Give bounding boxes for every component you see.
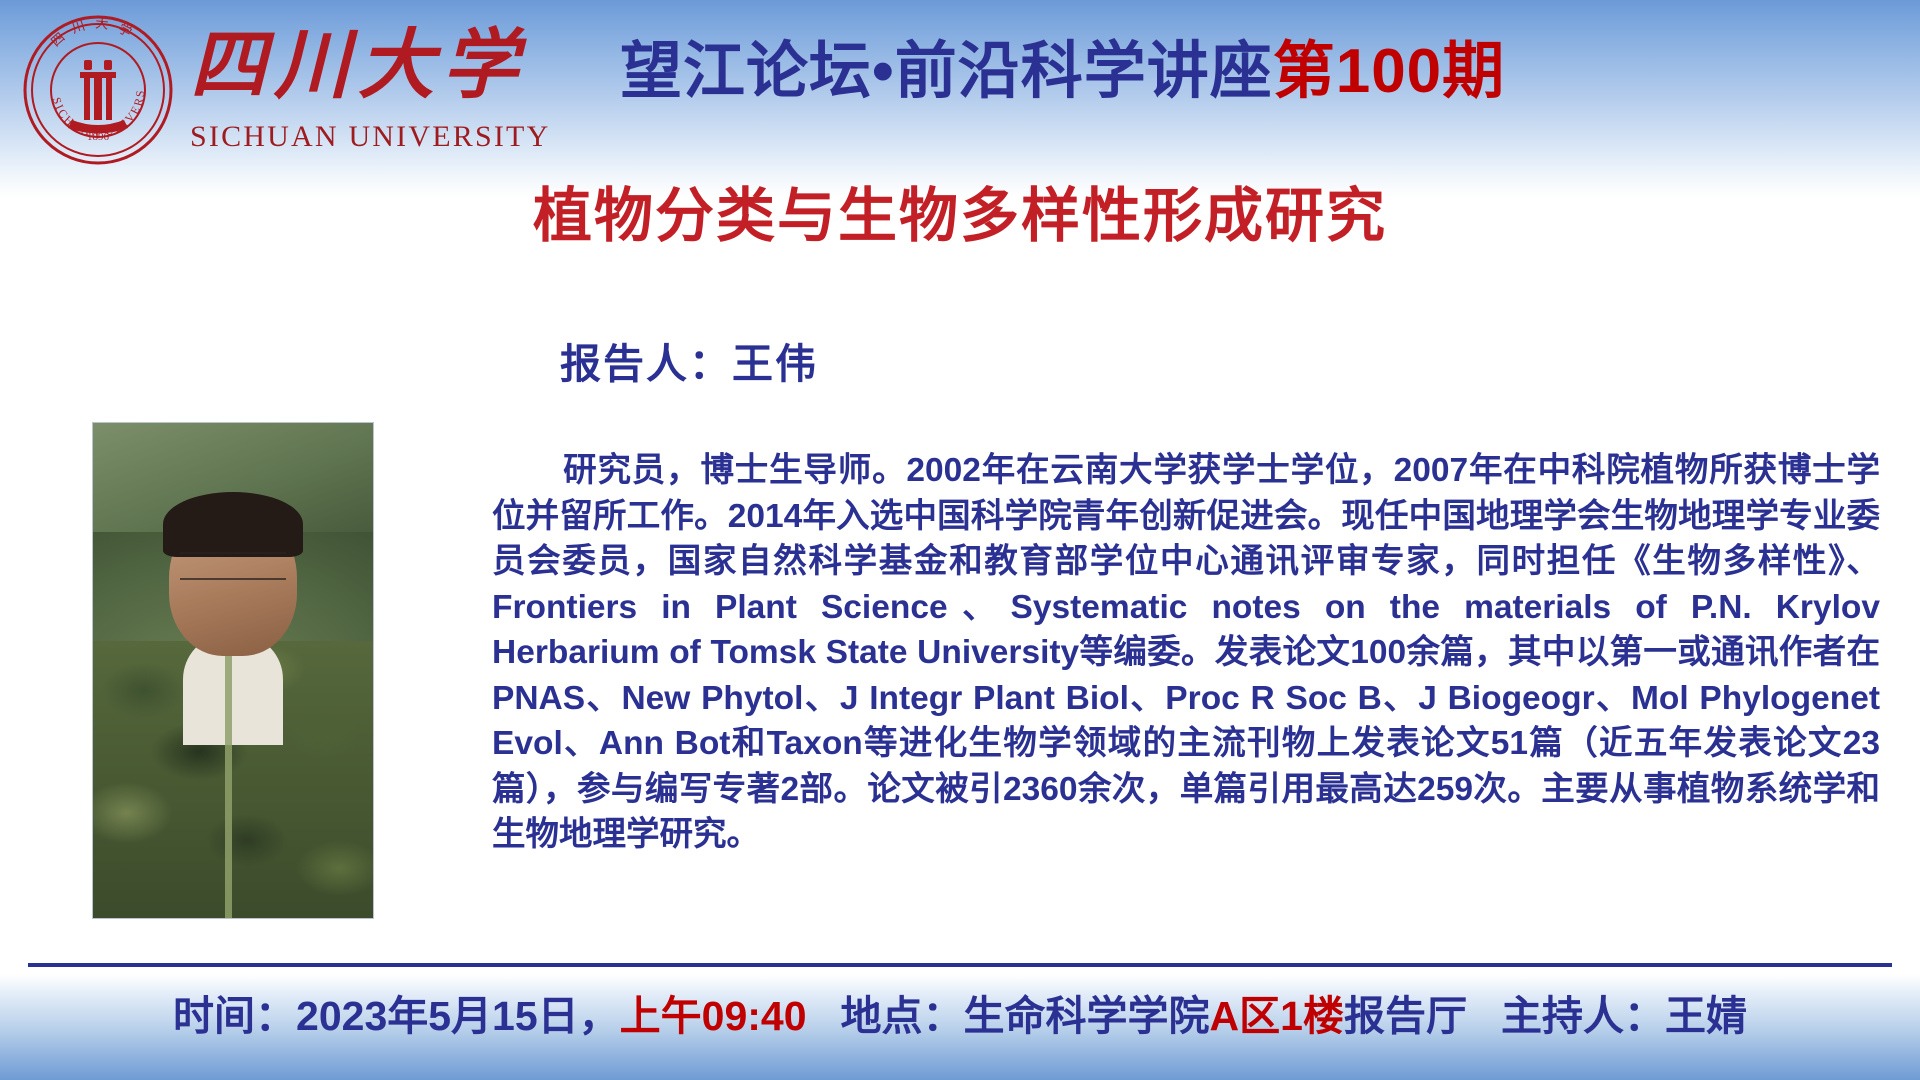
footer-details: 时间：2023年5月15日，上午09:40地点：生命科学学院A区1楼报告厅主持人… bbox=[0, 987, 1920, 1045]
host-value: 王婧 bbox=[1665, 993, 1747, 1039]
speaker-biography-text: 研究员，博士生导师。2002年在云南大学获学士学位，2007年在中科院植物所获博… bbox=[492, 452, 1880, 853]
poster-header: 1896 四 川 大 学 SICHUAN UNIVERSITY 四川大学 SIC… bbox=[0, 0, 1920, 198]
sichuan-university-seal-icon: 1896 四 川 大 学 SICHUAN UNIVERSITY bbox=[22, 14, 174, 166]
university-name-cn: 四川大学 bbox=[190, 18, 526, 114]
lecture-poster: 1896 四 川 大 学 SICHUAN UNIVERSITY 四川大学 SIC… bbox=[0, 0, 1920, 1080]
speaker-photo bbox=[92, 422, 374, 919]
photo-jacket-placket bbox=[225, 651, 232, 918]
place-value-suffix: 报告厅 bbox=[1344, 993, 1467, 1039]
forum-series-issue: 第100期 bbox=[1273, 37, 1505, 106]
speaker-biography: 研究员，博士生导师。2002年在云南大学获学士学位，2007年在中科院植物所获博… bbox=[492, 448, 1880, 858]
photo-glasses bbox=[180, 552, 286, 581]
poster-footer: 时间：2023年5月15日，上午09:40地点：生命科学学院A区1楼报告厅主持人… bbox=[0, 975, 1920, 1080]
place-label: 地点： bbox=[841, 993, 964, 1039]
place-value-highlight: A区1楼 bbox=[1210, 993, 1344, 1039]
time-date: 2023年5月15日， bbox=[296, 993, 620, 1039]
speaker-name: 报告人：王伟 bbox=[560, 330, 818, 390]
forum-series-title: 望江论坛•前沿科学讲座第100期 bbox=[620, 30, 1505, 114]
page-title: 植物分类与生物多样性形成研究 bbox=[0, 178, 1920, 254]
host-label: 主持人： bbox=[1501, 993, 1665, 1039]
footer-divider bbox=[28, 963, 1892, 967]
forum-series-title-main: 望江论坛•前沿科学讲座 bbox=[620, 37, 1273, 106]
time-label: 时间： bbox=[173, 993, 296, 1039]
university-logo: 1896 四 川 大 学 SICHUAN UNIVERSITY 四川大学 SIC… bbox=[12, 8, 572, 186]
time-clock: 上午09:40 bbox=[620, 993, 807, 1039]
university-name-en: SICHUAN UNIVERSITY bbox=[190, 120, 550, 154]
photo-hair bbox=[163, 492, 303, 556]
place-value-prefix: 生命科学学院 bbox=[964, 993, 1210, 1039]
